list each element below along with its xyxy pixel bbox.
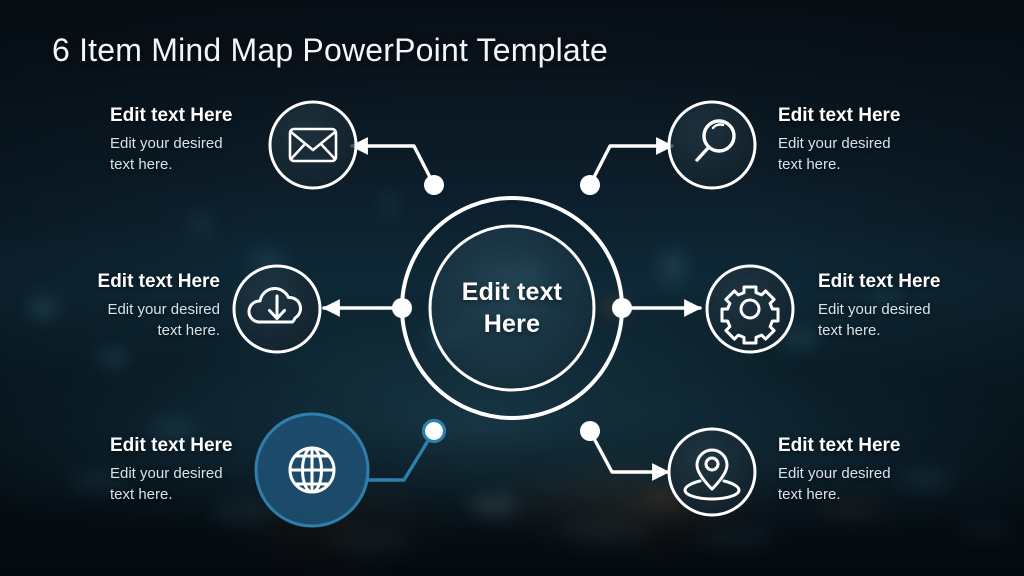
node-body: Edit your desired text here. (55, 299, 220, 342)
text-block-globe: Edit text Here Edit your desired text he… (110, 434, 280, 505)
ring-node-settings[interactable] (612, 298, 632, 318)
node-body-line1: Edit your desired (778, 463, 958, 484)
connector-location (590, 431, 668, 472)
node-body-line2: text here. (110, 154, 275, 175)
node-body: Edit your desired text here. (110, 133, 275, 176)
globe-icon (290, 448, 334, 492)
node-circle-cloud-download[interactable] (234, 266, 320, 352)
node-circle-mail[interactable] (270, 102, 356, 188)
ring-node-globe-highlighted[interactable] (424, 421, 445, 442)
node-circle-search[interactable] (669, 102, 755, 188)
node-body-line2: text here. (110, 484, 280, 505)
node-body-line2: text here. (778, 154, 958, 175)
slide-canvas: 6 Item Mind Map PowerPoint Template (0, 0, 1024, 576)
node-body-line1: Edit your desired (55, 299, 220, 320)
center-label-line2: Here (412, 308, 612, 340)
node-body-line1: Edit your desired (110, 463, 280, 484)
node-body-line2: text here. (778, 484, 958, 505)
text-block-location: Edit text Here Edit your desired text he… (778, 434, 958, 505)
node-heading: Edit text Here (778, 104, 958, 128)
ring-node-mail[interactable] (424, 175, 444, 195)
node-heading: Edit text Here (110, 104, 275, 128)
center-label: Edit text Here (412, 276, 612, 340)
node-body-line1: Edit your desired (818, 299, 998, 320)
connector-search (590, 146, 672, 185)
node-body: Edit your desired text here. (778, 463, 958, 506)
node-body: Edit your desired text here. (110, 463, 280, 506)
node-body: Edit your desired text here. (818, 299, 998, 342)
node-heading: Edit text Here (818, 270, 998, 294)
node-body-line2: text here. (818, 320, 998, 341)
node-circle-settings[interactable] (707, 266, 793, 352)
node-heading: Edit text Here (55, 270, 220, 294)
node-body-line2: text here. (55, 320, 220, 341)
node-heading: Edit text Here (778, 434, 958, 458)
center-label-line1: Edit text (412, 276, 612, 308)
text-block-mail: Edit text Here Edit your desired text he… (110, 104, 275, 175)
node-heading: Edit text Here (110, 434, 280, 458)
ring-node-cloud[interactable] (392, 298, 412, 318)
connector-mail (352, 146, 434, 185)
node-body-line1: Edit your desired (778, 133, 958, 154)
connector-globe-highlighted (364, 431, 434, 480)
node-body-line1: Edit your desired (110, 133, 275, 154)
node-body: Edit your desired text here. (778, 133, 958, 176)
text-block-settings: Edit text Here Edit your desired text he… (818, 270, 998, 341)
text-block-cloud-download: Edit text Here Edit your desired text he… (55, 270, 220, 341)
ring-node-location[interactable] (580, 421, 600, 441)
ring-node-search[interactable] (580, 175, 600, 195)
text-block-search: Edit text Here Edit your desired text he… (778, 104, 958, 175)
node-circle-location[interactable] (669, 429, 755, 515)
